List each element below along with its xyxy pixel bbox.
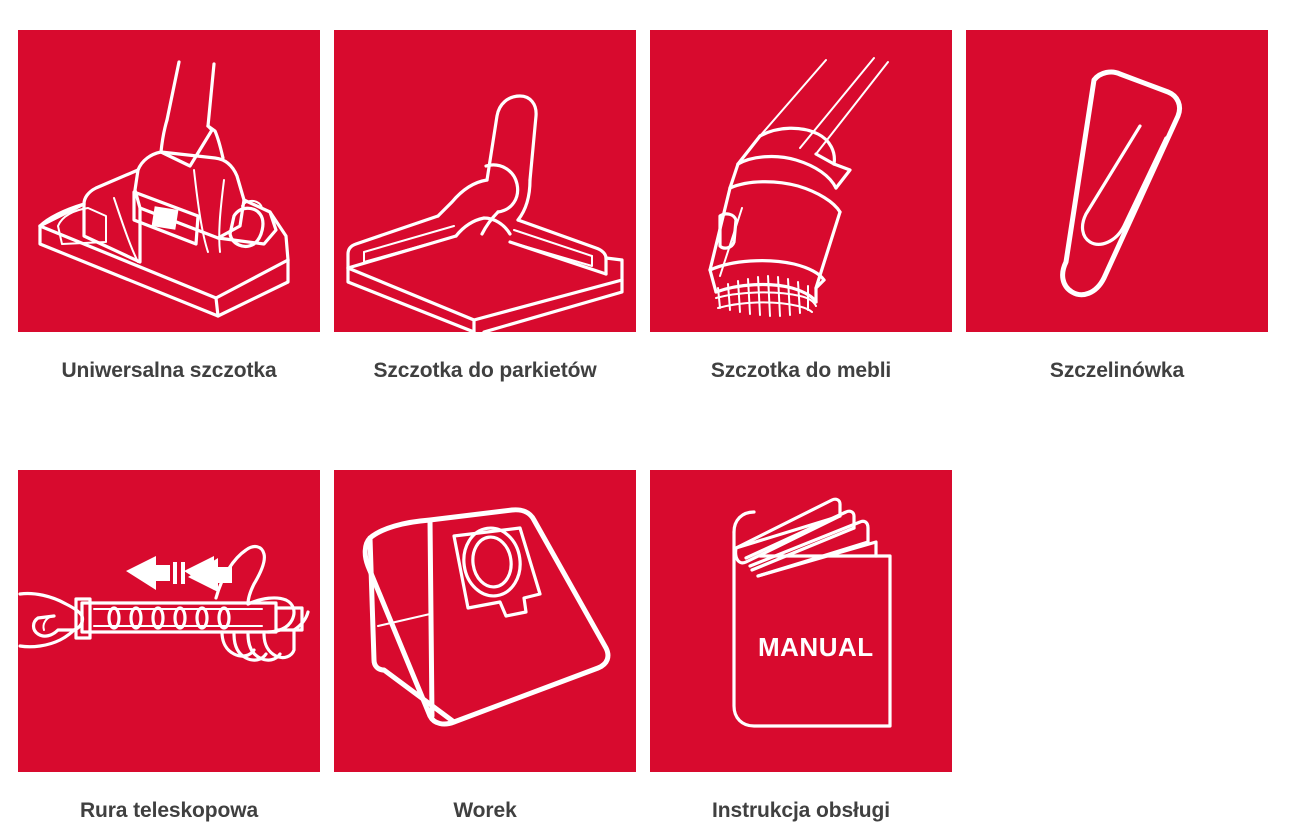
- accessory-label: Worek: [334, 798, 636, 823]
- accessory-label: Uniwersalna szczotka: [18, 358, 320, 383]
- accessory-tile-crevice-tool[interactable]: [966, 30, 1268, 332]
- accessory-row-top: Uniwersalna szczotka: [0, 30, 1301, 383]
- accessory-cell-universal-brush[interactable]: Uniwersalna szczotka: [18, 30, 320, 383]
- dust-bag-icon: [334, 470, 636, 772]
- manual-cover-text: MANUAL: [758, 632, 874, 662]
- accessory-tile-universal-brush[interactable]: [18, 30, 320, 332]
- accessory-cell-telescopic-tube[interactable]: Rura teleskopowa: [18, 470, 320, 823]
- accessory-cell-dust-bag[interactable]: Worek: [334, 470, 636, 823]
- accessory-tile-manual[interactable]: MANUAL: [650, 470, 952, 772]
- accessory-label: Rura teleskopowa: [18, 798, 320, 823]
- accessory-cell-parquet-brush[interactable]: Szczotka do parkietów: [334, 30, 636, 383]
- accessory-tile-parquet-brush[interactable]: [334, 30, 636, 332]
- furniture-brush-icon: [650, 30, 952, 332]
- accessory-cell-furniture-brush[interactable]: Szczotka do mebli: [650, 30, 952, 383]
- accessory-tile-dust-bag[interactable]: [334, 470, 636, 772]
- manual-book-icon: MANUAL: [650, 470, 952, 772]
- accessory-label: Szczelinówka: [966, 358, 1268, 383]
- accessory-row-bottom: Rura teleskopowa: [0, 470, 1301, 823]
- accessory-label: Szczotka do parkietów: [334, 358, 636, 383]
- parquet-brush-icon: [334, 30, 636, 332]
- accessory-cell-manual[interactable]: MANUAL Instrukcja obsługi: [650, 470, 952, 823]
- accessories-board: Uniwersalna szczotka: [0, 0, 1301, 828]
- accessory-cell-crevice-tool[interactable]: Szczelinówka: [966, 30, 1268, 383]
- universal-brush-icon: [18, 30, 320, 332]
- accessory-tile-telescopic-tube[interactable]: [18, 470, 320, 772]
- accessory-label: Szczotka do mebli: [650, 358, 952, 383]
- accessory-tile-furniture-brush[interactable]: [650, 30, 952, 332]
- telescopic-tube-icon: [18, 470, 320, 772]
- crevice-tool-icon: [966, 30, 1268, 332]
- accessory-label: Instrukcja obsługi: [650, 798, 952, 823]
